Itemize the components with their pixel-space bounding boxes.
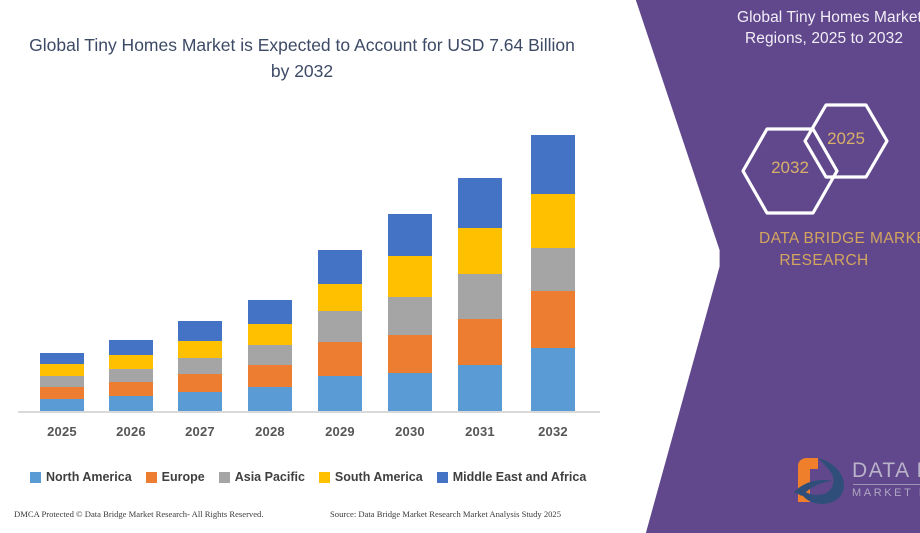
brand-name: DATA BRIDGE MARKET RESEARCH xyxy=(718,228,920,273)
bar-segment xyxy=(40,376,84,387)
legend-item[interactable]: North America xyxy=(30,470,132,484)
bar-segment xyxy=(531,248,575,291)
logo-wordmark: DATA BRIDGE MARKET RESEARCH xyxy=(852,460,920,499)
bar-segment xyxy=(109,355,153,369)
legend-swatch-icon xyxy=(319,472,330,483)
bar-segment xyxy=(178,321,222,341)
bar-segment xyxy=(458,178,502,228)
x-axis-label: 2032 xyxy=(523,424,583,439)
panel-title-line-2: Regions, 2025 to 2032 xyxy=(680,29,920,50)
bar-segment xyxy=(178,358,222,374)
bar-segment xyxy=(109,340,153,355)
legend-swatch-icon xyxy=(437,472,448,483)
bar-segment xyxy=(109,396,153,411)
bar-segment xyxy=(178,392,222,411)
bar-segment xyxy=(531,291,575,348)
brand-name-line-2: RESEARCH xyxy=(670,250,920,272)
legend-label: Asia Pacific xyxy=(235,470,305,484)
bar-2028 xyxy=(248,300,292,411)
bar-segment xyxy=(318,342,362,376)
bar-2030 xyxy=(388,214,432,411)
bar-segment xyxy=(388,373,432,411)
bar-segment xyxy=(531,348,575,411)
x-axis-label: 2027 xyxy=(170,424,230,439)
bar-segment xyxy=(248,324,292,345)
stacked-bar-chart: 20252026202720282029203020312032 xyxy=(0,0,620,533)
logo-subtitle: MARKET RESEARCH xyxy=(852,488,920,499)
bar-2032 xyxy=(531,135,575,411)
legend-item[interactable]: Asia Pacific xyxy=(219,470,305,484)
bar-2027 xyxy=(178,321,222,411)
hexagon-start-year: 2025 xyxy=(802,102,890,180)
bar-segment xyxy=(248,365,292,387)
legend-swatch-icon xyxy=(146,472,157,483)
x-axis-label: 2030 xyxy=(380,424,440,439)
bar-segment xyxy=(109,382,153,396)
bar-2031 xyxy=(458,178,502,411)
x-axis-label: 2031 xyxy=(450,424,510,439)
bar-segment xyxy=(318,250,362,284)
brand-name-line-1: DATA BRIDGE MARKET xyxy=(759,230,920,247)
legend-item[interactable]: Middle East and Africa xyxy=(437,470,587,484)
bar-segment xyxy=(458,228,502,274)
bar-segment xyxy=(40,387,84,399)
data-bridge-logo: DATA BRIDGE MARKET RESEARCH xyxy=(788,452,920,510)
footer-copyright: DMCA Protected © Data Bridge Market Rese… xyxy=(14,509,264,519)
panel-title-line-1: Global Tiny Homes Market, By xyxy=(718,8,920,29)
panel-title: Global Tiny Homes Market, By Regions, 20… xyxy=(718,8,920,50)
infographic-root: Global Tiny Homes Market is Expected to … xyxy=(0,0,920,533)
bar-segment xyxy=(40,399,84,411)
legend-item[interactable]: South America xyxy=(319,470,423,484)
bar-segment xyxy=(458,274,502,319)
x-axis-label: 2029 xyxy=(310,424,370,439)
bar-segment xyxy=(248,300,292,324)
hexagon-start-year-label: 2025 xyxy=(802,129,890,149)
bar-segment xyxy=(109,369,153,382)
bar-segment xyxy=(458,319,502,365)
bar-segment xyxy=(458,365,502,411)
bar-segment xyxy=(388,256,432,297)
legend-label: Europe xyxy=(162,470,205,484)
x-axis-label: 2026 xyxy=(101,424,161,439)
chart-legend: North AmericaEuropeAsia PacificSouth Ame… xyxy=(30,470,610,484)
bar-segment xyxy=(388,335,432,373)
bar-segment xyxy=(318,311,362,342)
logo-mark-icon xyxy=(788,452,850,508)
bar-segment xyxy=(318,284,362,311)
legend-label: North America xyxy=(46,470,132,484)
bar-segment xyxy=(531,135,575,194)
legend-label: South America xyxy=(335,470,423,484)
legend-swatch-icon xyxy=(219,472,230,483)
brand-panel: Global Tiny Homes Market, By Regions, 20… xyxy=(600,0,920,533)
logo-divider xyxy=(853,484,920,485)
legend-item[interactable]: Europe xyxy=(146,470,205,484)
footer-source: Source: Data Bridge Market Research Mark… xyxy=(330,509,561,519)
bar-2026 xyxy=(109,340,153,411)
legend-label: Middle East and Africa xyxy=(453,470,587,484)
x-axis-label: 2025 xyxy=(32,424,92,439)
bar-2025 xyxy=(40,353,84,411)
year-hexagons: 2032 2025 xyxy=(740,100,920,220)
bar-segment xyxy=(248,345,292,365)
bar-2029 xyxy=(318,250,362,411)
bar-segment xyxy=(40,364,84,376)
bar-segment xyxy=(388,297,432,335)
bar-segment xyxy=(531,194,575,248)
legend-swatch-icon xyxy=(30,472,41,483)
bar-segment xyxy=(178,374,222,392)
x-axis-line xyxy=(18,411,600,413)
bar-segment xyxy=(318,376,362,411)
x-axis-label: 2028 xyxy=(240,424,300,439)
bar-segment xyxy=(178,341,222,358)
bar-segment xyxy=(388,214,432,256)
bar-segment xyxy=(248,387,292,411)
bar-segment xyxy=(40,353,84,364)
logo-name: DATA BRIDGE xyxy=(852,460,920,481)
